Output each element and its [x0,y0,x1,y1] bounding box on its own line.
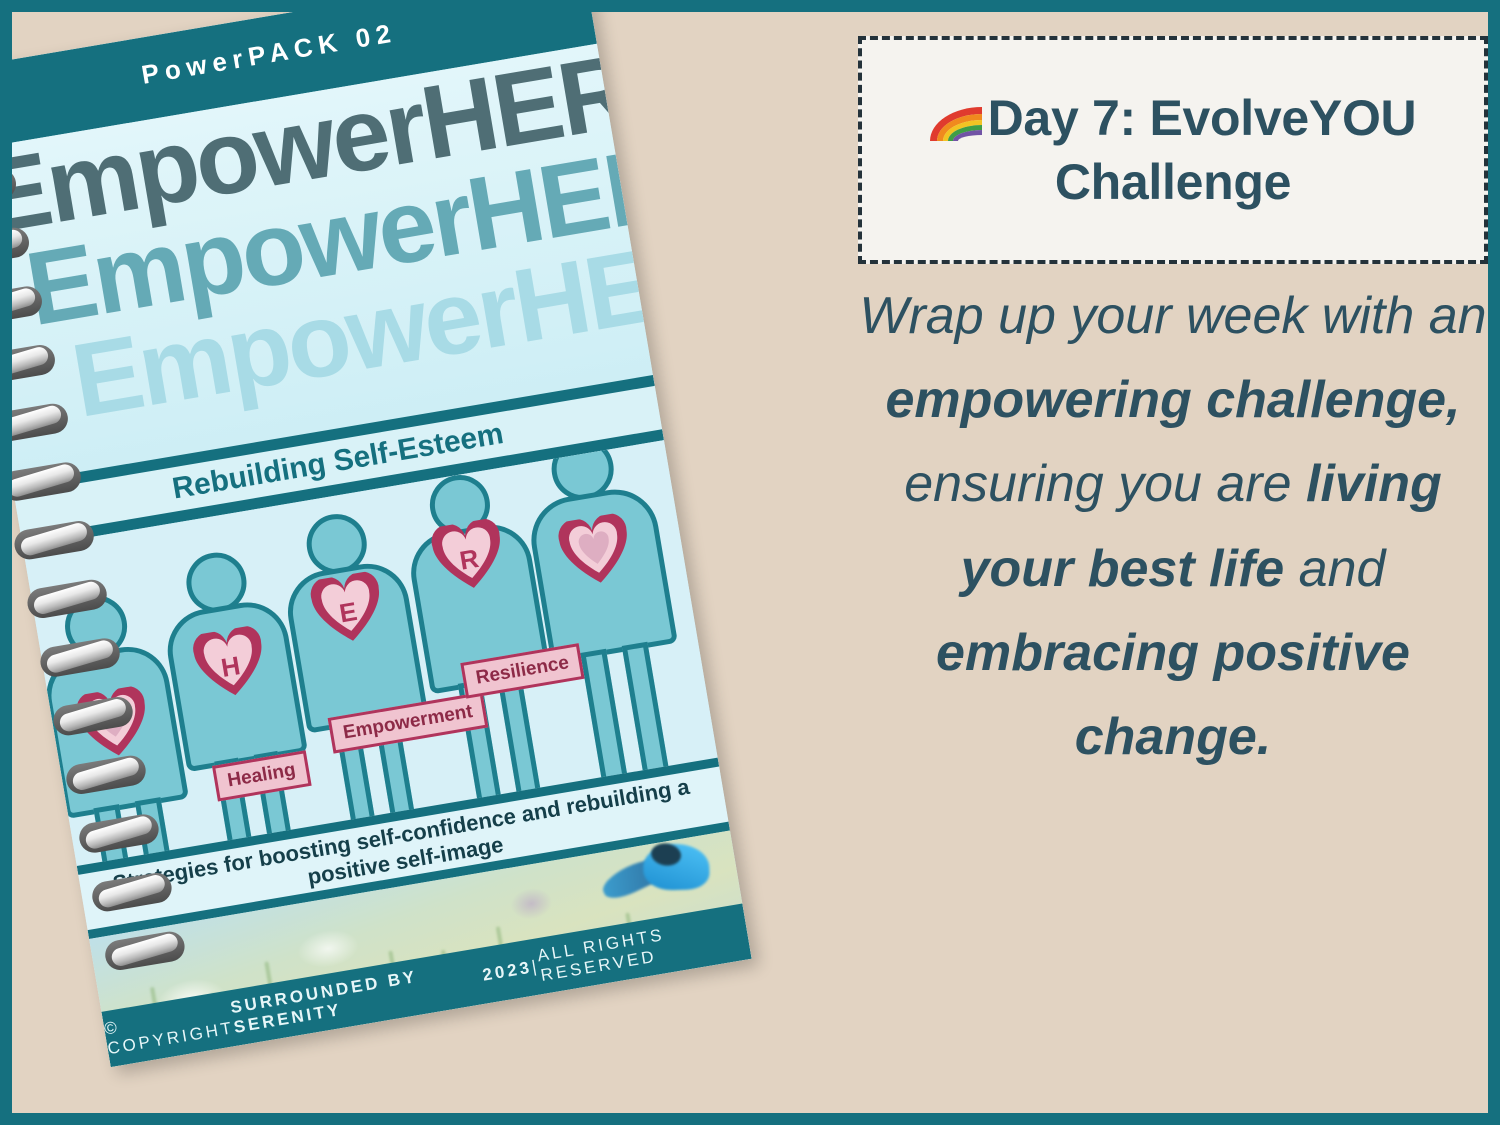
heart-icon-e: E [307,570,389,649]
challenge-description: Wrap up your week with an empowering cha… [850,274,1488,779]
book-mockup: PowerPACK 02 EmpowerHER EmpowerHER Empow… [12,12,742,1100]
heart-letter: E [307,570,389,649]
desc-seg-0: Wrap up your week with an [859,287,1486,345]
figure-leg-right [622,642,671,784]
desc-seg-4: and [1284,540,1385,598]
copyright-year: 2023 [481,958,533,986]
figure-leg-right [497,673,542,805]
challenge-title-line-2: Challenge [1055,154,1291,210]
heart-icon-r: R [427,517,509,596]
poster-frame: PowerPACK 02 EmpowerHER EmpowerHER Empow… [0,0,1500,1125]
challenge-title: Day 7: EvolveYOU Challenge [916,86,1431,214]
challenge-title-line-1: Day 7: EvolveYOU [988,90,1417,146]
heart-letter: H [189,624,271,703]
desc-seg-2: ensuring you are [904,455,1306,513]
challenge-title-box: Day 7: EvolveYOU Challenge [858,36,1488,264]
heart-icon-h: H [189,624,271,703]
rainbow-icon [930,107,982,141]
desc-seg-5: embracing positive change. [936,624,1410,766]
poster-inner: PowerPACK 02 EmpowerHER EmpowerHER Empow… [12,12,1488,1113]
figure-leg-left [580,649,629,791]
desc-seg-1: empowering challenge, [885,371,1460,429]
heart-letter: R [427,517,509,596]
copyright-rights: ALL RIGHTS RESERVED [536,911,750,986]
cover-copyright: © COPYRIGHT SURROUNDED BY SERENITY 2023 … [101,904,751,1068]
message-column: Day 7: EvolveYOU Challenge Wrap up your … [850,22,1488,1112]
heart-icon [554,512,636,591]
